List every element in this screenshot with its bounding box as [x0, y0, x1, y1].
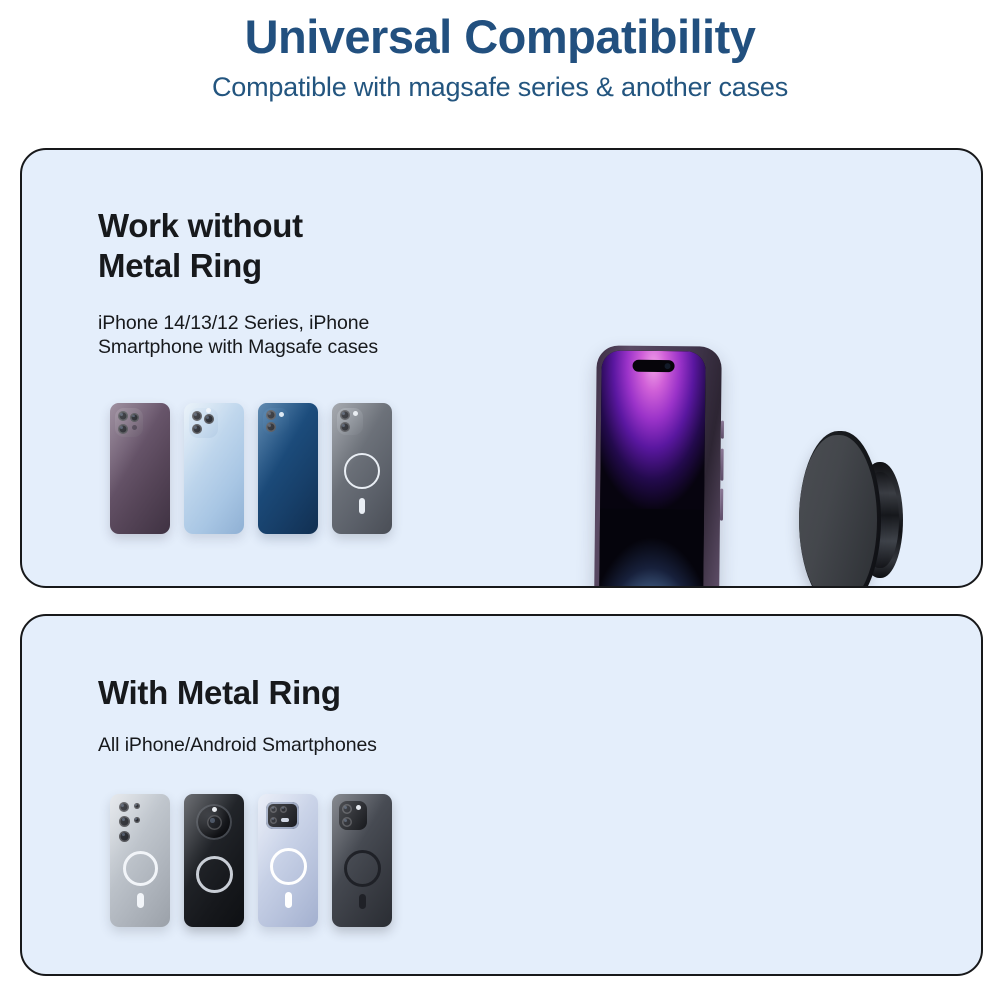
panel-2-thumbnail-row	[110, 794, 392, 927]
thumbnail-iphone-sierra-blue	[184, 403, 244, 534]
thumbnail-huawei-mate	[184, 794, 244, 927]
iphone-14-pro-device	[593, 345, 722, 588]
phone-grip-holder	[799, 430, 903, 588]
panel-1-text-block: Work without Metal Ring iPhone 14/13/12 …	[98, 206, 378, 360]
panel-1-description-line-1: iPhone 14/13/12 Series, iPhone	[98, 311, 378, 336]
iphone-screen	[598, 350, 705, 588]
panel-1-thumbnail-row	[110, 403, 392, 534]
thumbnail-iphone-deep-purple	[110, 403, 170, 534]
header: Universal Compatibility Compatible with …	[0, 0, 1000, 103]
infographic-page: Universal Compatibility Compatible with …	[0, 0, 1000, 1000]
thumbnail-samsung-galaxy-ultra	[110, 794, 170, 927]
dynamic-island	[633, 360, 675, 372]
panel-2-description-line-1: All iPhone/Android Smartphones	[98, 733, 377, 758]
thumbnail-iphone-blue	[258, 403, 318, 534]
panel-1-heading-line-1: Work without	[98, 206, 378, 246]
thumbnail-android-phone-lavender	[258, 794, 318, 927]
thumbnail-iphone-clear-case-magsafe	[332, 403, 392, 534]
panel-work-without-metal-ring: Work without Metal Ring iPhone 14/13/12 …	[20, 148, 983, 588]
panel-1-heading-line-2: Metal Ring	[98, 246, 378, 286]
thumbnail-iphone-dark-gray-case	[332, 794, 392, 927]
page-title: Universal Compatibility	[0, 0, 1000, 61]
panel-2-heading-line-1: With Metal Ring	[98, 673, 377, 713]
panel-with-metal-ring: With Metal Ring All iPhone/Android Smart…	[20, 614, 983, 976]
panel-1-description-line-2: Smartphone with Magsafe cases	[98, 335, 378, 360]
page-subtitle: Compatible with magsafe series & another…	[0, 61, 1000, 103]
panel-2-text-block: With Metal Ring All iPhone/Android Smart…	[98, 673, 377, 758]
